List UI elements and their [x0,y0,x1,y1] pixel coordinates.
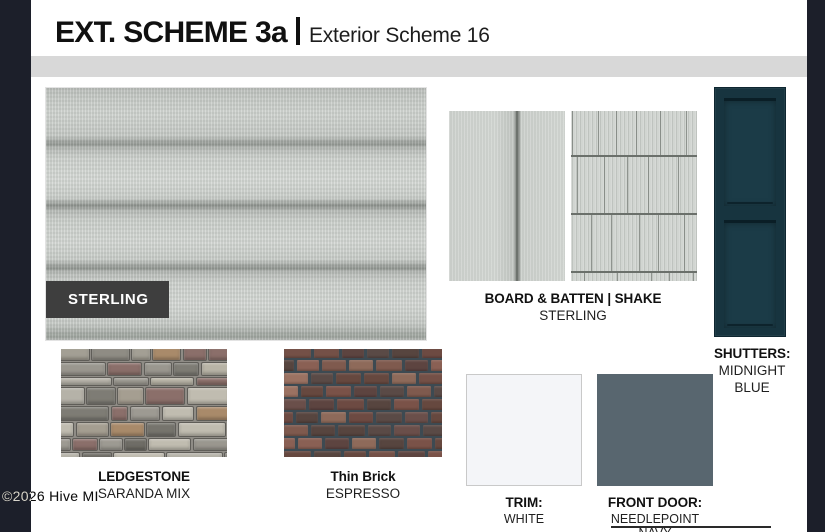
brick-unit [419,373,442,384]
left-edge-bar [0,0,31,532]
brick-unit [431,360,442,371]
stone-unit [61,362,106,376]
brick-unit [379,438,404,449]
stone-unit [187,387,227,405]
brick-unit [349,360,373,371]
brick-unit [342,349,364,358]
shake-row [571,111,697,157]
stone-unit [117,387,144,405]
brick-unit [367,349,389,358]
brick-row [284,373,442,386]
stone-unit [113,377,149,386]
brick-unit [394,425,420,436]
brick-row [284,438,442,451]
brick-row [284,399,442,412]
brick-unit [309,399,334,410]
brick-unit [376,360,402,371]
shake-swatch [571,111,697,281]
brick-unit [422,349,442,358]
brick-unit [428,451,442,457]
shutter-panel-top [724,98,776,206]
brick-unit [298,438,322,449]
stone-unit [166,452,223,457]
siding-color-tag: STERLING [46,281,169,318]
brick-unit [284,360,294,371]
shake-rows [571,111,697,281]
brick-row [284,451,442,457]
thin-brick-caption: Thin Brick ESPRESSO [284,469,442,501]
thin-brick-group: Thin Brick ESPRESSO [284,349,442,501]
brick-unit [321,412,346,423]
brick-unit [284,399,306,410]
scheme-board-page: EXT. SCHEME 3a Exterior Scheme 16 STERLI… [31,0,807,532]
brick-unit [336,373,361,384]
stone-unit [196,377,227,386]
brick-row [284,425,442,438]
stone-unit [146,422,176,437]
stone-unit [61,438,71,451]
brick-unit [301,386,323,397]
brick-unit [322,360,346,371]
brick-row [284,386,442,399]
brick-unit [405,360,428,371]
brick-unit [284,412,293,423]
brick-unit [435,438,442,449]
stone-unit [82,452,112,457]
stone-unit [99,438,123,451]
brick-unit [392,349,419,358]
brick-row [284,349,442,360]
stone-unit [145,387,185,405]
stone-unit [131,349,151,361]
stone-unit [61,452,80,457]
board-batten-shake-group: BOARD & BATTEN | SHAKE STERLING [449,111,697,323]
shutter-swatch [714,87,786,337]
brick-unit [422,399,442,410]
stone-unit [152,349,181,361]
brick-unit [431,412,442,423]
brick-row [284,412,442,425]
brick-unit [284,451,311,457]
brick-unit [394,399,419,410]
brick-unit [326,386,351,397]
trim-caption-title: TRIM: [466,495,582,510]
board-batten-shake-images [449,111,697,281]
trim-color-swatch [466,374,582,486]
stone-unit [224,452,227,457]
brick-unit [392,373,416,384]
thin-brick-caption-title: Thin Brick [284,469,442,484]
ledgestone-group: LEDGESTONE SARANDA MIX [61,349,227,501]
ledgestone-caption-title: LEDGESTONE [61,469,227,484]
front-door-caption-color: NEEDLEPOINT NAVY [597,512,713,532]
bottom-rule [611,526,771,528]
stone-unit [173,362,199,376]
shutters-caption-color-line2: BLUE [714,380,790,395]
siding-swatch: STERLING [45,87,427,341]
brick-unit [314,349,339,358]
board-batten-caption-color: STERLING [449,308,697,323]
stone-unit [162,406,194,421]
brick-unit [338,425,365,436]
shutters-group: SHUTTERS: MIDNIGHT BLUE [714,87,790,395]
brick-unit [349,412,373,423]
shutters-caption: SHUTTERS: MIDNIGHT BLUE [714,346,790,395]
stone-unit [61,377,112,386]
shake-row [571,157,697,215]
stone-unit [107,362,142,376]
stone-unit [196,406,227,421]
brick-unit [376,412,402,423]
stone-unit [72,438,98,451]
shake-row [571,215,697,273]
stone-unit [183,349,207,361]
brick-unit [367,399,391,410]
board-batten-caption: BOARD & BATTEN | SHAKE STERLING [449,291,697,323]
header-divider-band [31,56,807,77]
trim-group: TRIM: WHITE [466,374,582,526]
stone-unit [124,438,147,451]
brick-unit [352,438,376,449]
stone-unit [86,387,116,405]
page-subtitle: Exterior Scheme 16 [309,24,490,48]
page-title: EXT. SCHEME 3a [55,16,287,50]
brick-unit [284,438,295,449]
stone-unit [130,406,160,421]
shake-row [571,273,697,281]
stone-unit [201,362,227,376]
stone-unit [193,438,227,451]
swatch-board: STERLING BOARD & BATTEN | SHAKE STERLING [31,77,807,532]
thin-brick-caption-color: ESPRESSO [284,486,442,501]
brick-unit [364,373,389,384]
shutters-caption-color-line1: MIDNIGHT [714,363,790,378]
title-row: EXT. SCHEME 3a Exterior Scheme 16 [55,14,807,50]
brick-unit [405,412,428,423]
brick-unit [407,386,431,397]
stone-unit [208,349,227,361]
title-divider-icon [296,17,300,45]
stone-unit [148,438,191,451]
thin-brick-swatch [284,349,442,457]
board-batten-caption-title: BOARD & BATTEN | SHAKE [449,291,697,306]
stone-unit [144,362,172,376]
stone-unit [110,422,145,437]
stone-unit [113,452,165,457]
brick-unit [380,386,404,397]
trim-caption-color: WHITE [466,512,582,526]
brick-unit [296,412,318,423]
brick-unit [311,373,333,384]
stone-unit [61,387,85,405]
brick-unit [369,451,395,457]
brick-row [284,360,442,373]
ledgestone-swatch [61,349,227,457]
stone-unit [178,422,226,437]
brick-unit [344,451,366,457]
stone-unit [61,422,74,437]
brick-unit [368,425,391,436]
front-door-caption-title: FRONT DOOR: [597,495,713,510]
brick-unit [407,438,432,449]
stone-unit [111,406,128,421]
page-header: EXT. SCHEME 3a Exterior Scheme 16 [31,0,807,56]
stone-unit [76,422,109,437]
front-door-color-swatch [597,374,713,486]
brick-unit [284,373,308,384]
brick-unit [284,349,311,358]
front-door-group: FRONT DOOR: NEEDLEPOINT NAVY (SW 0032) [597,374,713,532]
brick-unit [354,386,377,397]
brick-unit [284,386,298,397]
shutters-caption-title: SHUTTERS: [714,346,790,361]
brick-unit [314,451,341,457]
brick-unit [398,451,425,457]
shutter-panel-bottom [724,220,776,328]
stone-unit [150,377,194,386]
copyright-watermark: ©2026 Hive MI [2,488,99,504]
brick-unit [311,425,335,436]
right-edge-bar [807,0,825,532]
brick-unit [337,399,364,410]
stone-unit [91,349,130,361]
brick-unit [434,386,442,397]
brick-unit [423,425,442,436]
stone-unit [61,406,109,421]
trim-caption: TRIM: WHITE [466,495,582,526]
stone-unit [61,349,90,361]
brick-unit [297,360,319,371]
board-batten-swatch [449,111,565,281]
brick-unit [325,438,349,449]
brick-unit [284,425,308,436]
